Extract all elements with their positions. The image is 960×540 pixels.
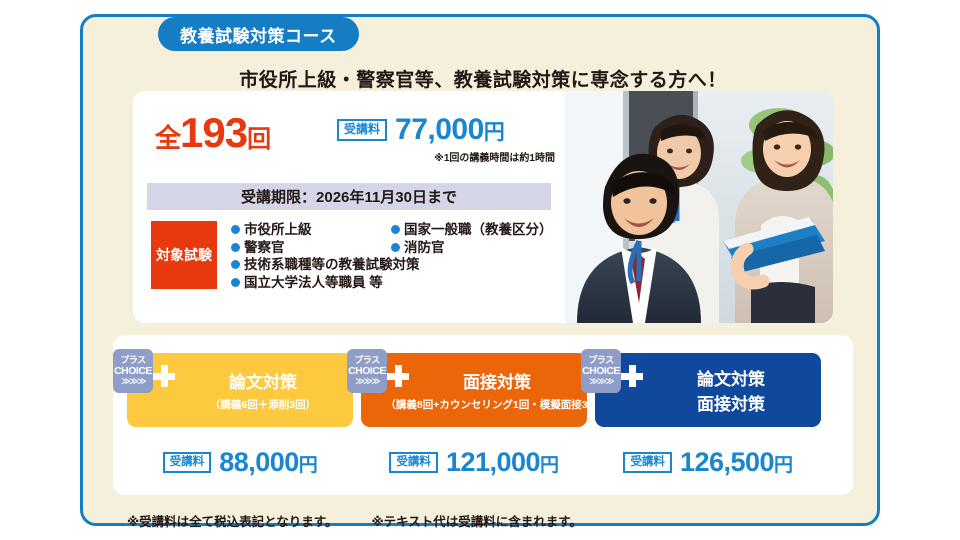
course-fee: 受講料 77,000円 xyxy=(337,113,504,147)
option-price-2: 受講料 121,000円 xyxy=(361,447,587,478)
course-summary-panel: 全193回 受講料 77,000円 ※1回の講義時間は約1時間 受講期限：202… xyxy=(133,91,833,323)
target-exams-list: 市役所上級 国家一般職（教養区分） 警察官 消防官 xyxy=(231,221,551,291)
price-amount: 88,000円 xyxy=(219,447,317,478)
price-currency: 円 xyxy=(774,455,793,476)
plus-choice-badge-line3: ≫≫≫ xyxy=(121,377,145,386)
option-column-3: プラス CHOICE ≫≫≫ 論文対策 面接対策 受講料 126,500円 xyxy=(595,353,821,478)
course-summary-left: 全193回 受講料 77,000円 ※1回の講義時間は約1時間 受講期限：202… xyxy=(133,91,565,323)
lesson-count-prefix: 全 xyxy=(155,123,180,153)
lesson-count: 全193回 xyxy=(155,109,271,157)
plus-choice-badge-line1: プラス xyxy=(120,356,145,365)
footer-note-text-fee: ※テキスト代は受講料に含まれます。 xyxy=(372,511,583,530)
price-number: 121,000 xyxy=(446,447,540,477)
course-card: 教養試験対策コース 市役所上級・警察官等、教養試験対策に専念する方へ！ 全193… xyxy=(80,14,880,526)
bullet-dot-icon xyxy=(391,243,400,252)
list-item-label: 国家一般職（教養区分） xyxy=(404,221,553,239)
count-and-fee-row: 全193回 受講料 77,000円 ※1回の講義時間は約1時間 xyxy=(155,109,555,165)
fee-badge: 受講料 xyxy=(337,119,387,140)
list-item: 市役所上級 xyxy=(231,221,391,239)
list-item-label: 市役所上級 xyxy=(244,221,312,239)
option-title-line2: 面接対策 xyxy=(697,390,765,415)
price-badge: 受講料 xyxy=(389,452,438,473)
list-item-label: 国立大学法人等職員 等 xyxy=(244,274,383,292)
target-exams-label: 対象試験 xyxy=(151,221,217,289)
plus-icon xyxy=(153,365,175,387)
plus-choice-badge-line3: ≫≫≫ xyxy=(589,377,613,386)
bullet-dot-icon xyxy=(391,225,400,234)
plus-choice-badge-line3: ≫≫≫ xyxy=(355,377,379,386)
price-amount: 121,000円 xyxy=(446,447,559,478)
option-title: 論文対策 xyxy=(229,368,297,393)
plus-choice-badge-line2: CHOICE xyxy=(582,366,620,377)
price-currency: 円 xyxy=(540,455,559,476)
plus-icon xyxy=(387,365,409,387)
list-item: 国立大学法人等職員 等 xyxy=(231,274,551,292)
plus-choice-panel: プラス CHOICE ≫≫≫ 論文対策 （講義6回＋添削3回） 受講料 88,0… xyxy=(113,335,853,495)
option-card-interview[interactable]: プラス CHOICE ≫≫≫ 面接対策 （講義8回+カウンセリング1回・模擬面接… xyxy=(361,353,587,427)
plus-choice-badge-line2: CHOICE xyxy=(348,366,386,377)
bullet-dot-icon xyxy=(231,260,240,269)
option-column-1: プラス CHOICE ≫≫≫ 論文対策 （講義6回＋添削3回） 受講料 88,0… xyxy=(127,353,353,478)
option-price-1: 受講料 88,000円 xyxy=(127,447,353,478)
list-item: 国家一般職（教養区分） xyxy=(391,221,551,239)
option-card-essay-interview[interactable]: プラス CHOICE ≫≫≫ 論文対策 面接対策 xyxy=(595,353,821,427)
course-tab: 教養試験対策コース xyxy=(158,17,359,51)
plus-icon xyxy=(621,365,643,387)
list-item: 消防官 xyxy=(391,239,551,257)
course-tab-label: 教養試験対策コース xyxy=(180,22,337,47)
fee-currency: 円 xyxy=(484,121,505,144)
plus-choice-badge-icon: プラス CHOICE ≫≫≫ xyxy=(347,349,387,393)
plus-choice-badge-line1: プラス xyxy=(588,356,613,365)
lesson-count-suffix: 回 xyxy=(247,126,271,153)
target-exams-section: 対象試験 市役所上級 国家一般職（教養区分） 警察官 xyxy=(151,221,551,291)
price-badge: 受講料 xyxy=(623,452,672,473)
list-item-label: 警察官 xyxy=(244,239,285,257)
option-price-3: 受講料 126,500円 xyxy=(595,447,821,478)
list-item-label: 消防官 xyxy=(404,239,445,257)
option-subtitle: （講義8回+カウンセリング1回・模擬面接3回） xyxy=(385,397,608,412)
plus-choice-badge-icon: プラス CHOICE ≫≫≫ xyxy=(581,349,621,393)
bullet-dot-icon xyxy=(231,243,240,252)
page-title: 市役所上級・警察官等、教養試験対策に専念する方へ！ xyxy=(83,65,883,92)
price-badge: 受講料 xyxy=(163,452,212,473)
list-item: 警察官 xyxy=(231,239,391,257)
option-subtitle: （講義6回＋添削3回） xyxy=(210,397,316,412)
fee-amount-number: 77,000 xyxy=(395,113,484,146)
option-title: 論文対策 xyxy=(697,365,765,390)
plus-choice-badge-icon: プラス CHOICE ≫≫≫ xyxy=(113,349,153,393)
course-photo xyxy=(565,91,833,323)
price-number: 126,500 xyxy=(680,447,774,477)
plus-choice-badge-line1: プラス xyxy=(354,356,379,365)
footer-note-tax: ※受講料は全て税込表記となります。 xyxy=(127,511,338,530)
deadline-bar: 受講期限：2026年11月30日まで xyxy=(147,183,551,210)
list-item-label: 技術系職種等の教養試験対策 xyxy=(244,256,420,274)
footer-notes: ※受講料は全て税込表記となります。 ※テキスト代は受講料に含まれます。 xyxy=(127,511,582,530)
deadline-text: 受講期限：2026年11月30日まで xyxy=(241,186,457,207)
price-amount: 126,500円 xyxy=(680,447,793,478)
price-number: 88,000 xyxy=(219,447,299,477)
option-column-2: プラス CHOICE ≫≫≫ 面接対策 （講義8回+カウンセリング1回・模擬面接… xyxy=(361,353,587,478)
fee-amount: 77,000円 xyxy=(395,113,504,147)
option-card-essay[interactable]: プラス CHOICE ≫≫≫ 論文対策 （講義6回＋添削3回） xyxy=(127,353,353,427)
price-currency: 円 xyxy=(299,455,318,476)
list-item: 技術系職種等の教養試験対策 xyxy=(231,256,551,274)
plus-choice-badge-line2: CHOICE xyxy=(114,366,152,377)
lesson-count-number: 193 xyxy=(180,109,247,156)
option-title: 面接対策 xyxy=(463,368,531,393)
bullet-dot-icon xyxy=(231,225,240,234)
fee-note: ※1回の講義時間は約1時間 xyxy=(434,149,555,164)
bullet-dot-icon xyxy=(231,278,240,287)
